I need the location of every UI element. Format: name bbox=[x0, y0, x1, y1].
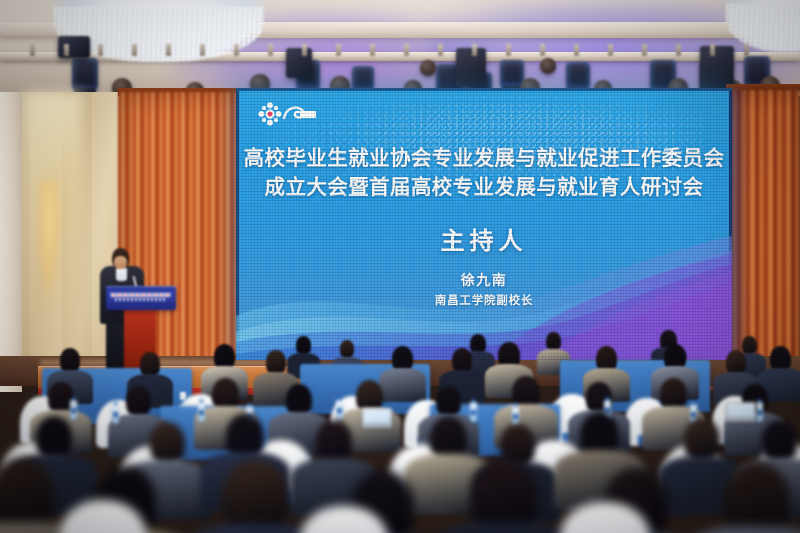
light-hanger bbox=[540, 44, 545, 56]
person-affiliation: 南昌工学院副校长 bbox=[236, 292, 732, 308]
audience-head bbox=[340, 340, 354, 358]
stage-light-icon bbox=[72, 58, 98, 92]
audience-torso bbox=[682, 526, 800, 533]
event-title-line-2: 成立大会暨首届高校专业发展与就业育人研讨会 bbox=[236, 173, 732, 202]
water-bottle bbox=[512, 406, 519, 426]
light-hanger bbox=[166, 44, 171, 56]
water-bottle bbox=[756, 402, 763, 422]
laptop bbox=[362, 408, 392, 428]
bottle-cap bbox=[248, 403, 251, 407]
audience-head bbox=[436, 386, 461, 417]
light-hanger bbox=[574, 44, 579, 56]
light-hanger bbox=[506, 44, 511, 56]
wall-sconce-glow bbox=[36, 180, 62, 310]
podium bbox=[106, 286, 176, 310]
screen-frame-top bbox=[236, 88, 732, 91]
light-hanger bbox=[472, 44, 477, 56]
speaker-shirt bbox=[116, 267, 127, 281]
light-hanger bbox=[302, 44, 307, 56]
led-presentation-screen: 高校毕业生就业协会专业发展与就业促进工作委员会 成立大会暨首届高校专业发展与就业… bbox=[236, 88, 732, 360]
light-hanger bbox=[710, 44, 715, 56]
light-hanger bbox=[676, 44, 681, 56]
event-title: 高校毕业生就业协会专业发展与就业促进工作委员会 成立大会暨首届高校专业发展与就业… bbox=[236, 144, 732, 202]
light-hanger bbox=[234, 44, 239, 56]
audience-head bbox=[762, 420, 797, 463]
water-bottle bbox=[198, 402, 205, 422]
bottle-cap bbox=[114, 401, 117, 405]
conference-photo: 高校毕业生就业协会专业发展与就业促进工作委员会 成立大会暨首届高校专业发展与就业… bbox=[0, 0, 800, 533]
audience-torso bbox=[379, 368, 426, 402]
loudspeaker-icon bbox=[58, 36, 90, 58]
water-bottle bbox=[70, 400, 77, 420]
light-hanger bbox=[370, 44, 375, 56]
laptop bbox=[726, 402, 756, 422]
light-hanger bbox=[30, 44, 35, 56]
bottle-cap bbox=[72, 397, 75, 401]
podium-banner-text-line-1 bbox=[111, 293, 171, 297]
par-can-light-icon bbox=[540, 58, 556, 74]
bottle-cap bbox=[692, 401, 695, 405]
loudspeaker-icon bbox=[456, 48, 486, 88]
laptop-screen bbox=[364, 410, 390, 423]
association-logo-icon bbox=[256, 102, 320, 128]
podium-banner bbox=[109, 292, 173, 303]
water-bottle bbox=[112, 404, 119, 424]
loudspeaker-icon bbox=[286, 48, 312, 78]
podium-banner-text-line-2 bbox=[115, 298, 167, 301]
light-hanger bbox=[98, 44, 103, 56]
bottle-cap bbox=[338, 397, 341, 401]
person-name: 徐九南 bbox=[236, 270, 732, 290]
light-hanger bbox=[744, 44, 749, 56]
light-hanger bbox=[200, 44, 205, 56]
light-hanger bbox=[642, 44, 647, 56]
light-hanger bbox=[438, 44, 443, 56]
light-hanger bbox=[608, 44, 613, 56]
water-bottle bbox=[470, 402, 477, 422]
audience-head bbox=[724, 462, 790, 533]
bottle-cap bbox=[200, 399, 203, 403]
light-hanger bbox=[336, 44, 341, 56]
audience-torso bbox=[428, 522, 580, 533]
light-hanger bbox=[268, 44, 273, 56]
event-title-line-1: 高校毕业生就业协会专业发展与就业促进工作委员会 bbox=[236, 144, 732, 173]
bottle-cap bbox=[606, 397, 609, 401]
bottle-cap bbox=[514, 403, 517, 407]
laptop-screen bbox=[728, 404, 754, 417]
par-can-light-icon bbox=[420, 60, 436, 76]
light-hanger bbox=[404, 44, 409, 56]
audience-area bbox=[0, 330, 800, 533]
audience-head bbox=[150, 422, 185, 465]
bottle-cap bbox=[472, 399, 475, 403]
role-label: 主持人 bbox=[236, 221, 732, 256]
light-hanger bbox=[132, 44, 137, 56]
water-bottle bbox=[336, 400, 343, 420]
bottle-cap bbox=[758, 399, 761, 403]
audience-head bbox=[126, 386, 151, 417]
audience-head bbox=[222, 460, 288, 533]
speaker-face bbox=[114, 256, 127, 269]
light-hanger bbox=[64, 44, 69, 56]
